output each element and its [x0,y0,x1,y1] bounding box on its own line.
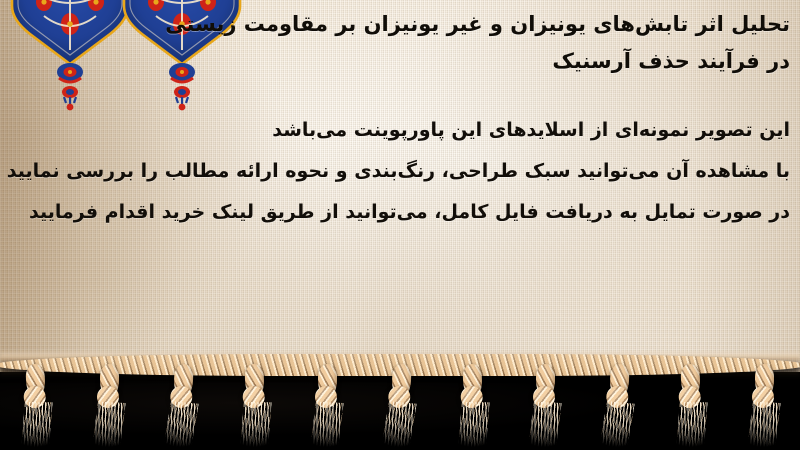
tassel-strands [528,401,562,448]
fringe-tassel [383,363,416,444]
title-line-2: در فرآیند حذف آرسنیک [10,43,790,80]
carpet-fringe [0,354,800,450]
fringe-tassel [601,363,634,444]
tassel-strands [458,402,490,448]
fringe-tassel [19,363,52,444]
body-line-1: این تصویر نمونه‌ای از اسلایدهای این پاور… [10,110,790,151]
fringe-tassel [165,363,198,444]
tassel-strands [747,401,781,448]
tassel-strands [310,401,344,448]
body-line-3: در صورت تمایل به دریافت فایل کامل، می‌تو… [10,192,790,233]
tassel-strands [92,401,126,448]
fringe-tassel [456,363,489,444]
tassel-strands [163,401,198,449]
fringe-tassel [530,364,560,444]
presentation-slide: تحلیل اثر تابش‌های یونیزان و غیر یونیزان… [0,0,800,450]
tassel-strands [381,401,416,449]
fringe-tassel [312,364,342,444]
tassel-strands [676,402,708,448]
body-line-2: با مشاهده آن می‌توانید سبک طراحی، رنگ‌بن… [10,151,790,192]
slide-body: این تصویر نمونه‌ای از اسلایدهای این پاور… [10,110,790,233]
fringe-tassel [94,364,124,444]
fringe-tassel [674,363,707,444]
tassel-strands [599,401,634,449]
fringe-tassel [238,363,271,444]
fringe-tassel [749,364,779,444]
tassel-strands [21,402,53,448]
tassel-strands [240,402,272,448]
slide-title: تحلیل اثر تابش‌های یونیزان و غیر یونیزان… [10,6,790,80]
title-line-1: تحلیل اثر تابش‌های یونیزان و غیر یونیزان… [10,6,790,43]
